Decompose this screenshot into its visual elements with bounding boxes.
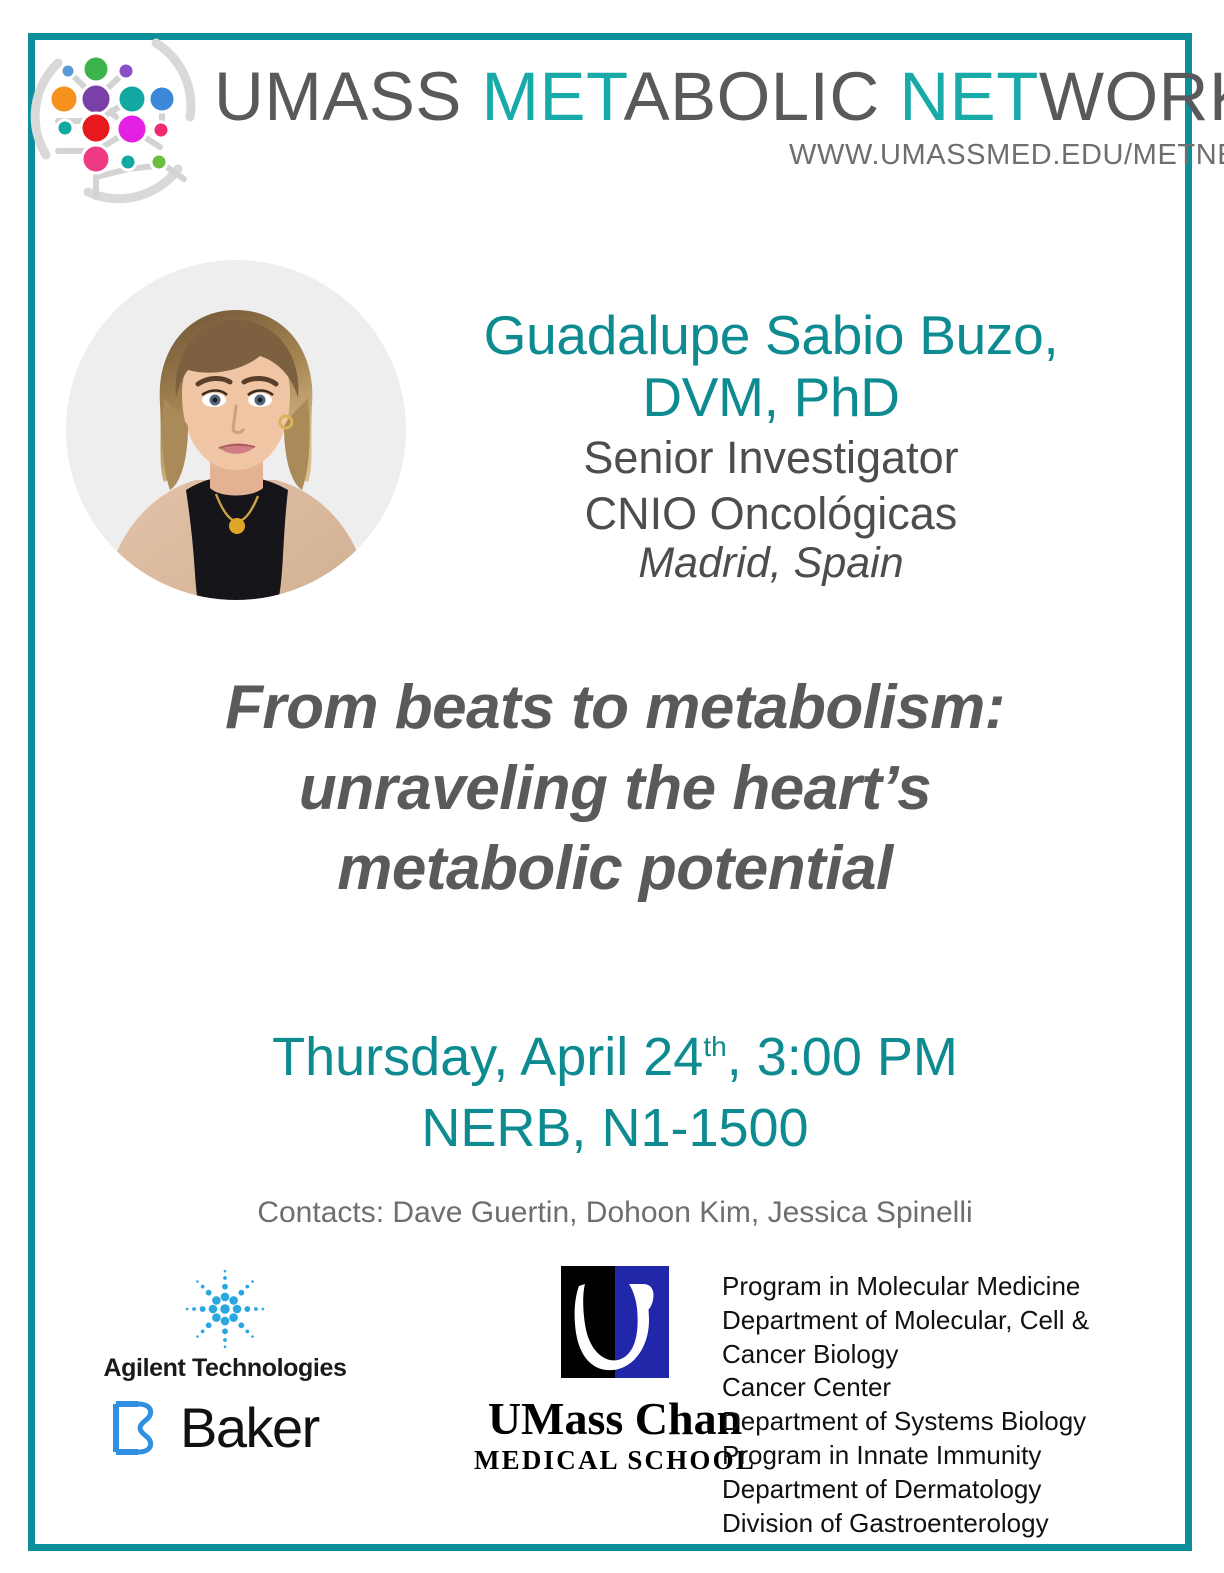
- contacts-line: Contacts: Dave Guertin, Dohoon Kim, Jess…: [90, 1196, 1140, 1230]
- event-day: Thursday, April 24: [272, 1027, 703, 1087]
- event-datetime: Thursday, April 24th, 3:00 PM: [90, 1022, 1140, 1093]
- wordmark-block: UMASS METABOLIC NETWORK WWW.UMASSMED.EDU…: [214, 62, 1224, 172]
- speaker-location: Madrid, Spain: [412, 539, 1130, 588]
- department-item: Cancer Biology: [722, 1338, 1142, 1372]
- department-item: Cancer Center: [722, 1371, 1142, 1405]
- talk-title-line-2: unraveling the heart’s: [90, 749, 1140, 830]
- speaker-details: Guadalupe Sabio Buzo, DVM, PhD Senior In…: [412, 258, 1160, 588]
- headshot-container: [60, 258, 412, 608]
- website-url[interactable]: WWW.UMASSMED.EDU/METNET: [789, 139, 1224, 172]
- department-list: Program in Molecular Medicine Department…: [722, 1270, 1142, 1540]
- wordmark-met: MET: [482, 58, 624, 135]
- wordmark-work: WORK: [1039, 58, 1224, 135]
- department-item: Department of Systems Biology: [722, 1405, 1142, 1439]
- department-item: Division of Gastroenterology: [722, 1507, 1142, 1541]
- wordmark-abolic: ABOLIC: [624, 58, 900, 135]
- department-item: Department of Molecular, Cell &: [722, 1304, 1142, 1338]
- umass-chan-u-icon: [551, 1262, 679, 1390]
- talk-title: From beats to metabolism: unraveling the…: [90, 668, 1140, 910]
- speaker-institution: CNIO Oncológicas: [412, 488, 1130, 539]
- agilent-starburst-icon: [182, 1266, 268, 1352]
- speaker-section: Guadalupe Sabio Buzo, DVM, PhD Senior In…: [60, 258, 1160, 608]
- agilent-wordmark: Agilent Technologies: [95, 1354, 355, 1383]
- event-datetime-location: Thursday, April 24th, 3:00 PM NERB, N1-1…: [90, 1022, 1140, 1165]
- poster-header: UMASS METABOLIC NETWORK WWW.UMASSMED.EDU…: [28, 17, 1158, 217]
- seminar-poster: UMASS METABOLIC NETWORK WWW.UMASSMED.EDU…: [0, 0, 1224, 1573]
- department-item: Program in Innate Immunity: [722, 1439, 1142, 1473]
- metabolic-network-nodes-icon: [28, 29, 204, 205]
- poster-footer: Agilent Technologies Baker UMass Chan ME…: [60, 1258, 1160, 1528]
- wordmark-net: NET: [899, 58, 1039, 135]
- event-day-ordinal: th: [703, 1031, 726, 1062]
- baker-b-icon: [108, 1398, 168, 1458]
- baker-logo: Baker: [108, 1398, 319, 1458]
- talk-title-line-1: From beats to metabolism:: [90, 668, 1140, 749]
- talk-title-line-3: metabolic potential: [90, 829, 1140, 910]
- speaker-name: Guadalupe Sabio Buzo,: [412, 304, 1130, 366]
- event-venue: NERB, N1-1500: [90, 1093, 1140, 1164]
- wordmark-umass: UMASS: [214, 58, 482, 135]
- umass-metabolic-network-wordmark: UMASS METABOLIC NETWORK: [214, 62, 1224, 131]
- baker-wordmark: Baker: [180, 1400, 319, 1456]
- speaker-headshot-image: [64, 258, 408, 602]
- department-item: Department of Dermatology: [722, 1473, 1142, 1507]
- department-item: Program in Molecular Medicine: [722, 1270, 1142, 1304]
- event-time: , 3:00 PM: [727, 1027, 958, 1087]
- speaker-degrees: DVM, PhD: [412, 366, 1130, 428]
- speaker-title: Senior Investigator: [412, 432, 1130, 483]
- agilent-logo: Agilent Technologies: [95, 1266, 355, 1383]
